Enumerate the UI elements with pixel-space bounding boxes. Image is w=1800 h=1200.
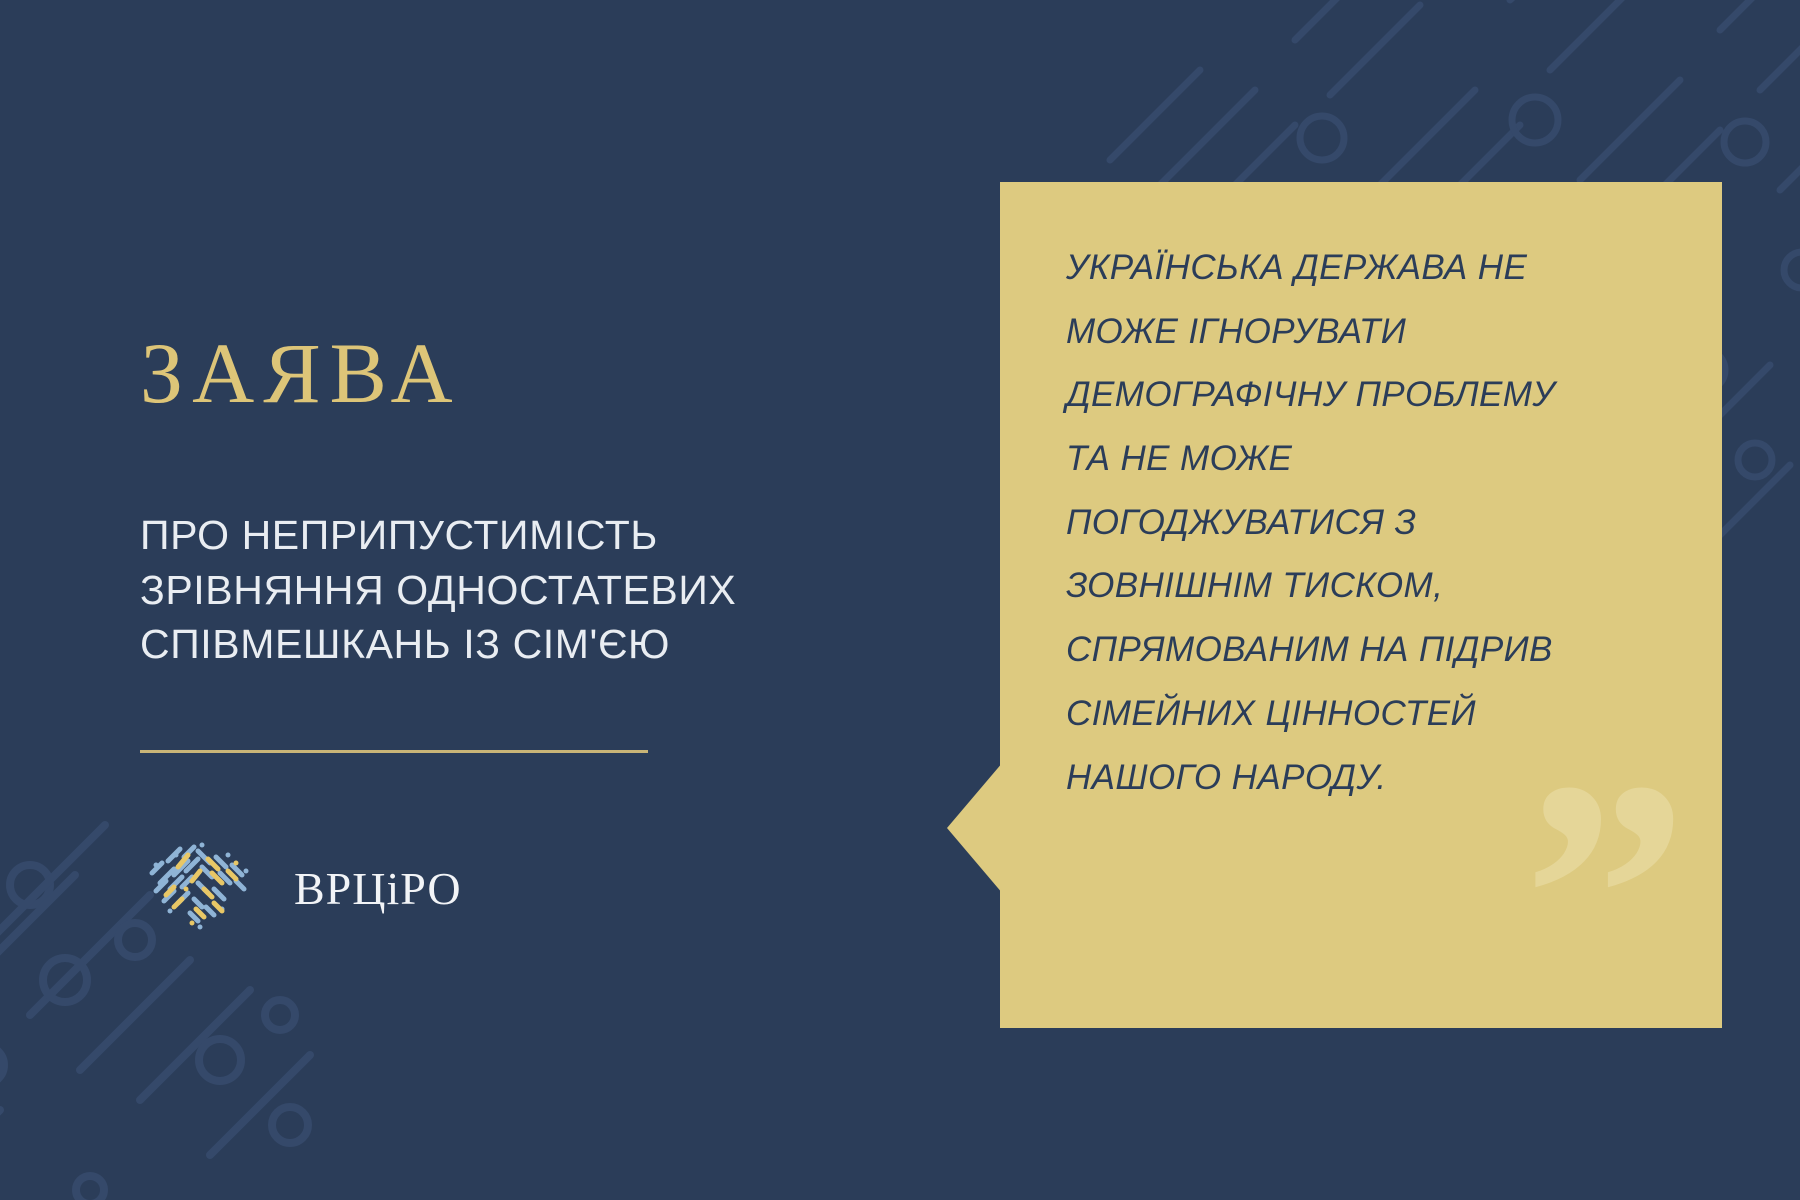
subtitle-line: ПРО НЕПРИПУСТИМІСТЬ (140, 508, 840, 563)
quote-line: ДЕМОГРАФІЧНУ ПРОБЛЕМУ (1066, 363, 1666, 427)
subtitle-line: СПІВМЕШКАНЬ ІЗ СІМ'ЄЮ (140, 617, 840, 672)
quote-line: ТА НЕ МОЖЕ (1066, 427, 1666, 491)
vrciro-mosaic-map-icon (140, 837, 268, 941)
quote-line: УКРАЇНСЬКА ДЕРЖАВА НЕ (1066, 236, 1666, 300)
quote-line: МОЖЕ ІГНОРУВАТИ (1066, 300, 1666, 364)
page-subtitle: ПРО НЕПРИПУСТИМІСТЬ ЗРІВНЯННЯ ОДНОСТАТЕВ… (140, 508, 840, 672)
organization-logo: ВРЦіРО (140, 837, 840, 941)
quotation-mark-icon: ” (1523, 795, 1688, 1000)
quote-line: ЗОВНІШНІМ ТИСКОМ, (1066, 554, 1666, 618)
quote-line: НАШОГО НАРОДУ. (1066, 746, 1666, 810)
subtitle-line: ЗРІВНЯННЯ ОДНОСТАТЕВИХ (140, 563, 840, 618)
gold-divider (140, 750, 648, 753)
organization-name: ВРЦіРО (294, 862, 462, 915)
slide-canvas: ЗАЯВА ПРО НЕПРИПУСТИМІСТЬ ЗРІВНЯННЯ ОДНО… (0, 0, 1800, 1200)
page-title: ЗАЯВА (140, 330, 840, 416)
quote-line: СПРЯМОВАНИМ НА ПІДРИВ (1066, 618, 1666, 682)
quote-line: ПОГОДЖУВАТИСЯ З (1066, 491, 1666, 555)
headline-column: ЗАЯВА ПРО НЕПРИПУСТИМІСТЬ ЗРІВНЯННЯ ОДНО… (140, 330, 840, 941)
quote-bubble-tail (947, 762, 1003, 894)
quote-text: УКРАЇНСЬКА ДЕРЖАВА НЕ МОЖЕ ІГНОРУВАТИ ДЕ… (1066, 236, 1666, 809)
quote-line: СІМЕЙНИХ ЦІННОСТЕЙ (1066, 682, 1666, 746)
